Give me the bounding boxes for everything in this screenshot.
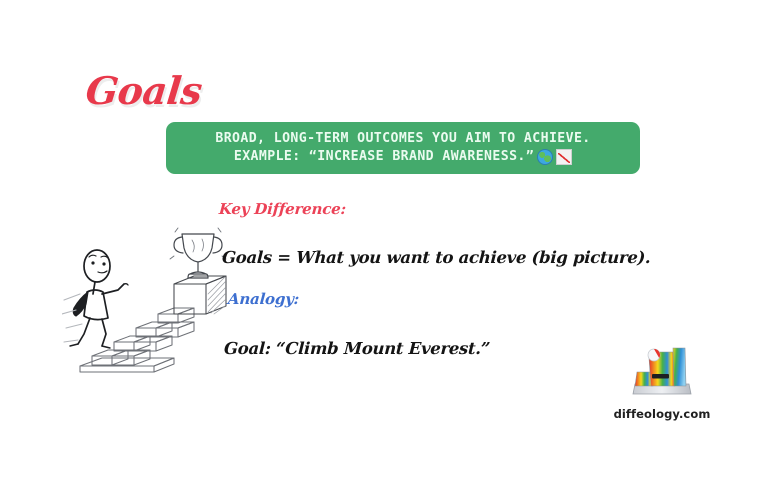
chart-increasing-emoji [556,149,572,165]
key-difference-label: Key Difference: [218,200,346,218]
banner-line-2-text: EXAMPLE: “INCREASE BRAND AWARENESS.” [234,148,534,166]
globe-emoji [537,149,553,165]
goal-example-text: Goal: “Climb Mount Everest.” [224,339,491,358]
analogy-label: Analogy: [227,290,299,308]
logo-block[interactable]: diffeology.com [598,344,726,421]
banner-line-2-row: EXAMPLE: “INCREASE BRAND AWARENESS.” [234,148,572,166]
logo-text: diffeology.com [598,407,726,421]
page-title: Goals [84,68,204,113]
definition-banner: BROAD, LONG-TERM OUTCOMES YOU AIM TO ACH… [166,122,640,174]
stick-figure-climbing-stairs-to-trophy-illustration [62,222,242,380]
goals-definition-text: Goals = What you want to achieve (big pi… [222,248,652,267]
banner-line-1: BROAD, LONG-TERM OUTCOMES YOU AIM TO ACH… [215,130,590,148]
diffeology-rainbow-logo-icon [629,344,695,400]
